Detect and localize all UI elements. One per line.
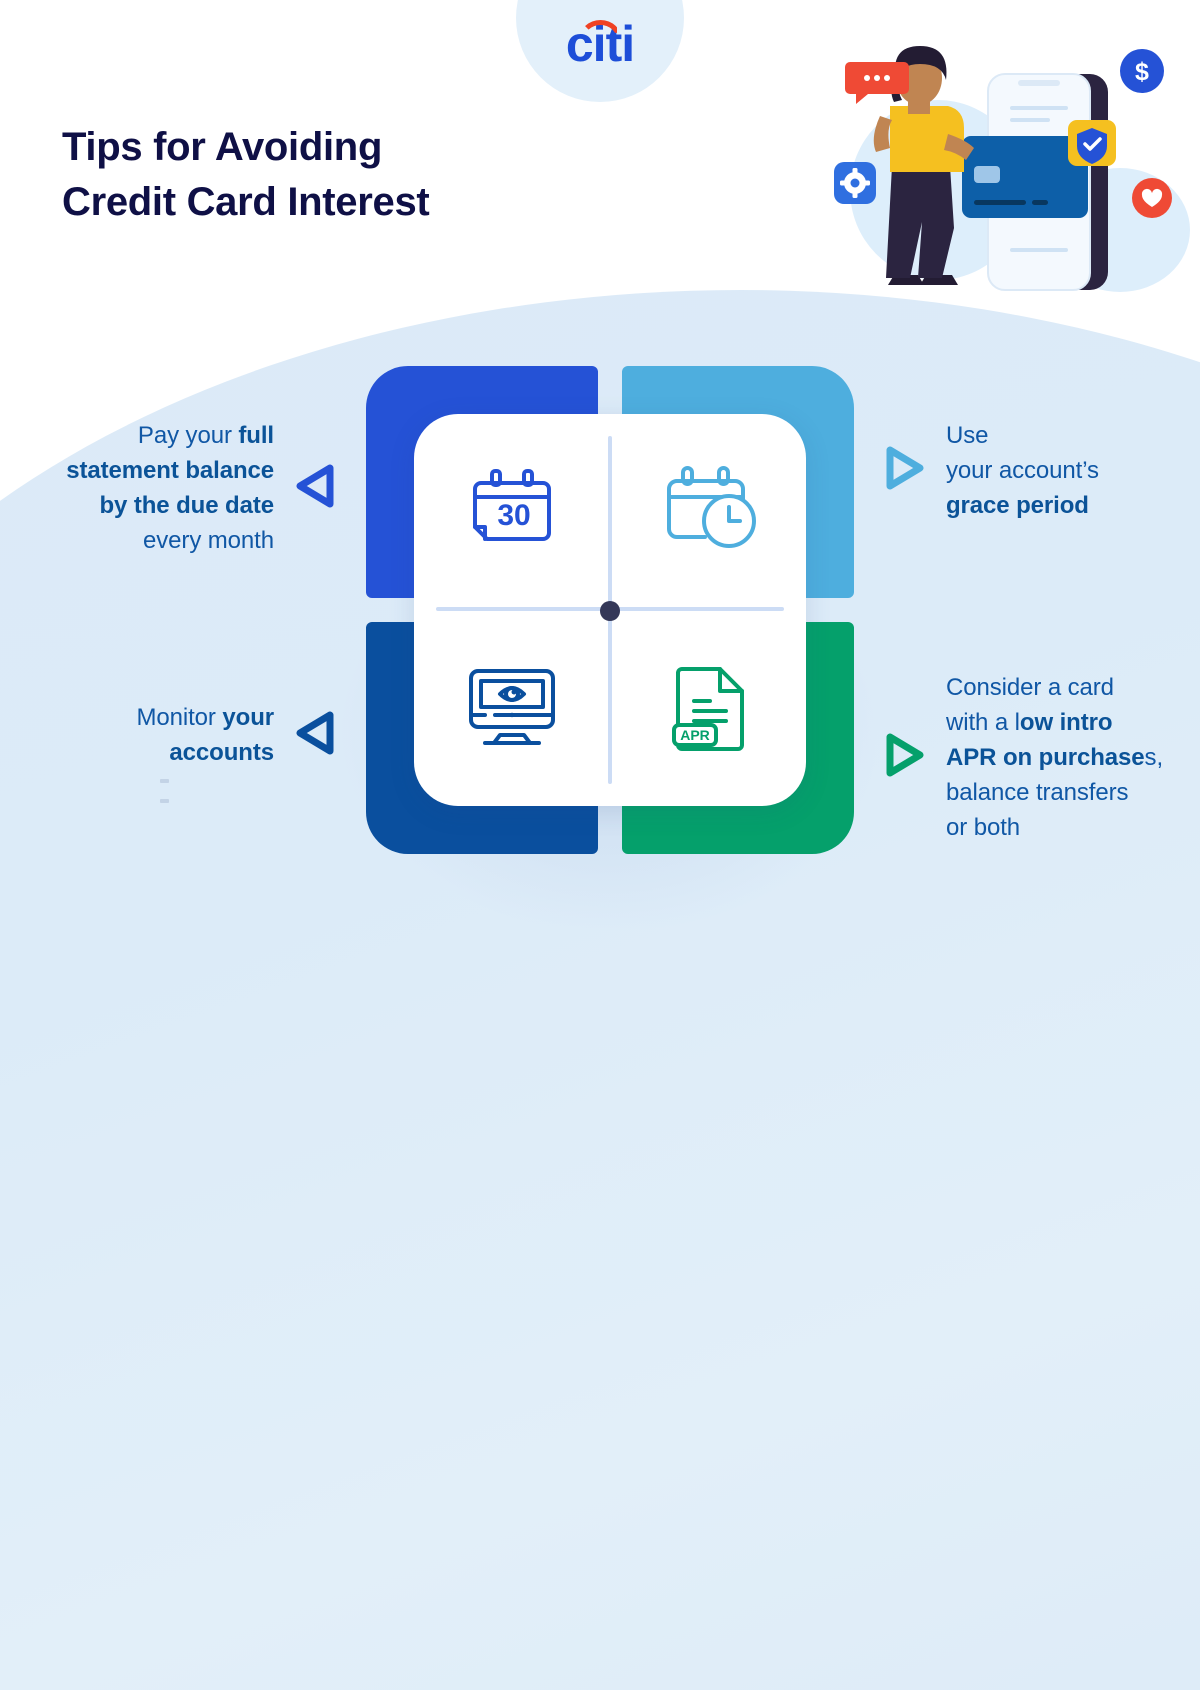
arrow-left-icon-bottom [296, 711, 336, 760]
phone-line-1 [1010, 106, 1068, 110]
svg-text:$: $ [1135, 58, 1149, 86]
stray-mark-1 [160, 779, 169, 783]
gear-badge [834, 162, 876, 204]
credit-card-number-1 [974, 200, 1026, 205]
phone-speaker [1018, 80, 1060, 86]
callout-top-right-text: Useyour account’sgrace period [946, 418, 1099, 523]
apr-document-icon: APR [652, 652, 772, 762]
calendar-30-icon: 30 [452, 452, 572, 562]
hero-illustration: $ [820, 40, 1200, 300]
calendar-clock-icon [652, 452, 772, 562]
callout-bottom-right: Consider a cardwith a low introAPR on pu… [884, 670, 1200, 845]
callout-bottom-left-text: Monitor youraccounts [136, 700, 274, 770]
callout-top-left: Pay your fullstatement balanceby the due… [0, 418, 336, 558]
calendar-day-number: 30 [497, 499, 530, 532]
apr-badge-label: APR [680, 727, 710, 743]
phone-line-3 [1010, 248, 1068, 252]
citi-logo: citi [548, 16, 652, 78]
center-dot [600, 601, 620, 621]
arrow-right-icon-top [884, 446, 924, 495]
page-title-line-1: Tips for Avoiding [62, 125, 382, 169]
credit-card-number-2 [1032, 200, 1048, 205]
arrow-left-icon-top [296, 464, 336, 513]
callout-bottom-right-text: Consider a cardwith a low introAPR on pu… [946, 670, 1163, 845]
quadrant-diagram: 30 [352, 352, 868, 868]
page-title: Tips for Avoiding Credit Card Interest [62, 120, 429, 230]
stray-mark-2 [160, 799, 169, 803]
page-title-line-2: Credit Card Interest [62, 180, 429, 224]
heart-badge [1132, 178, 1172, 218]
person-pants [886, 166, 954, 278]
arrow-right-icon-bottom [884, 733, 924, 782]
callout-top-left-text: Pay your fullstatement balanceby the due… [66, 418, 274, 558]
callout-top-right: Useyour account’sgrace period [884, 418, 1200, 523]
phone-line-2 [1010, 118, 1050, 122]
shield-badge [1068, 120, 1116, 166]
credit-card-chip [974, 166, 1000, 183]
dollar-badge: $ [1120, 49, 1164, 93]
monitor-eye-icon [452, 652, 572, 762]
callout-bottom-left: Monitor youraccounts [0, 700, 336, 770]
